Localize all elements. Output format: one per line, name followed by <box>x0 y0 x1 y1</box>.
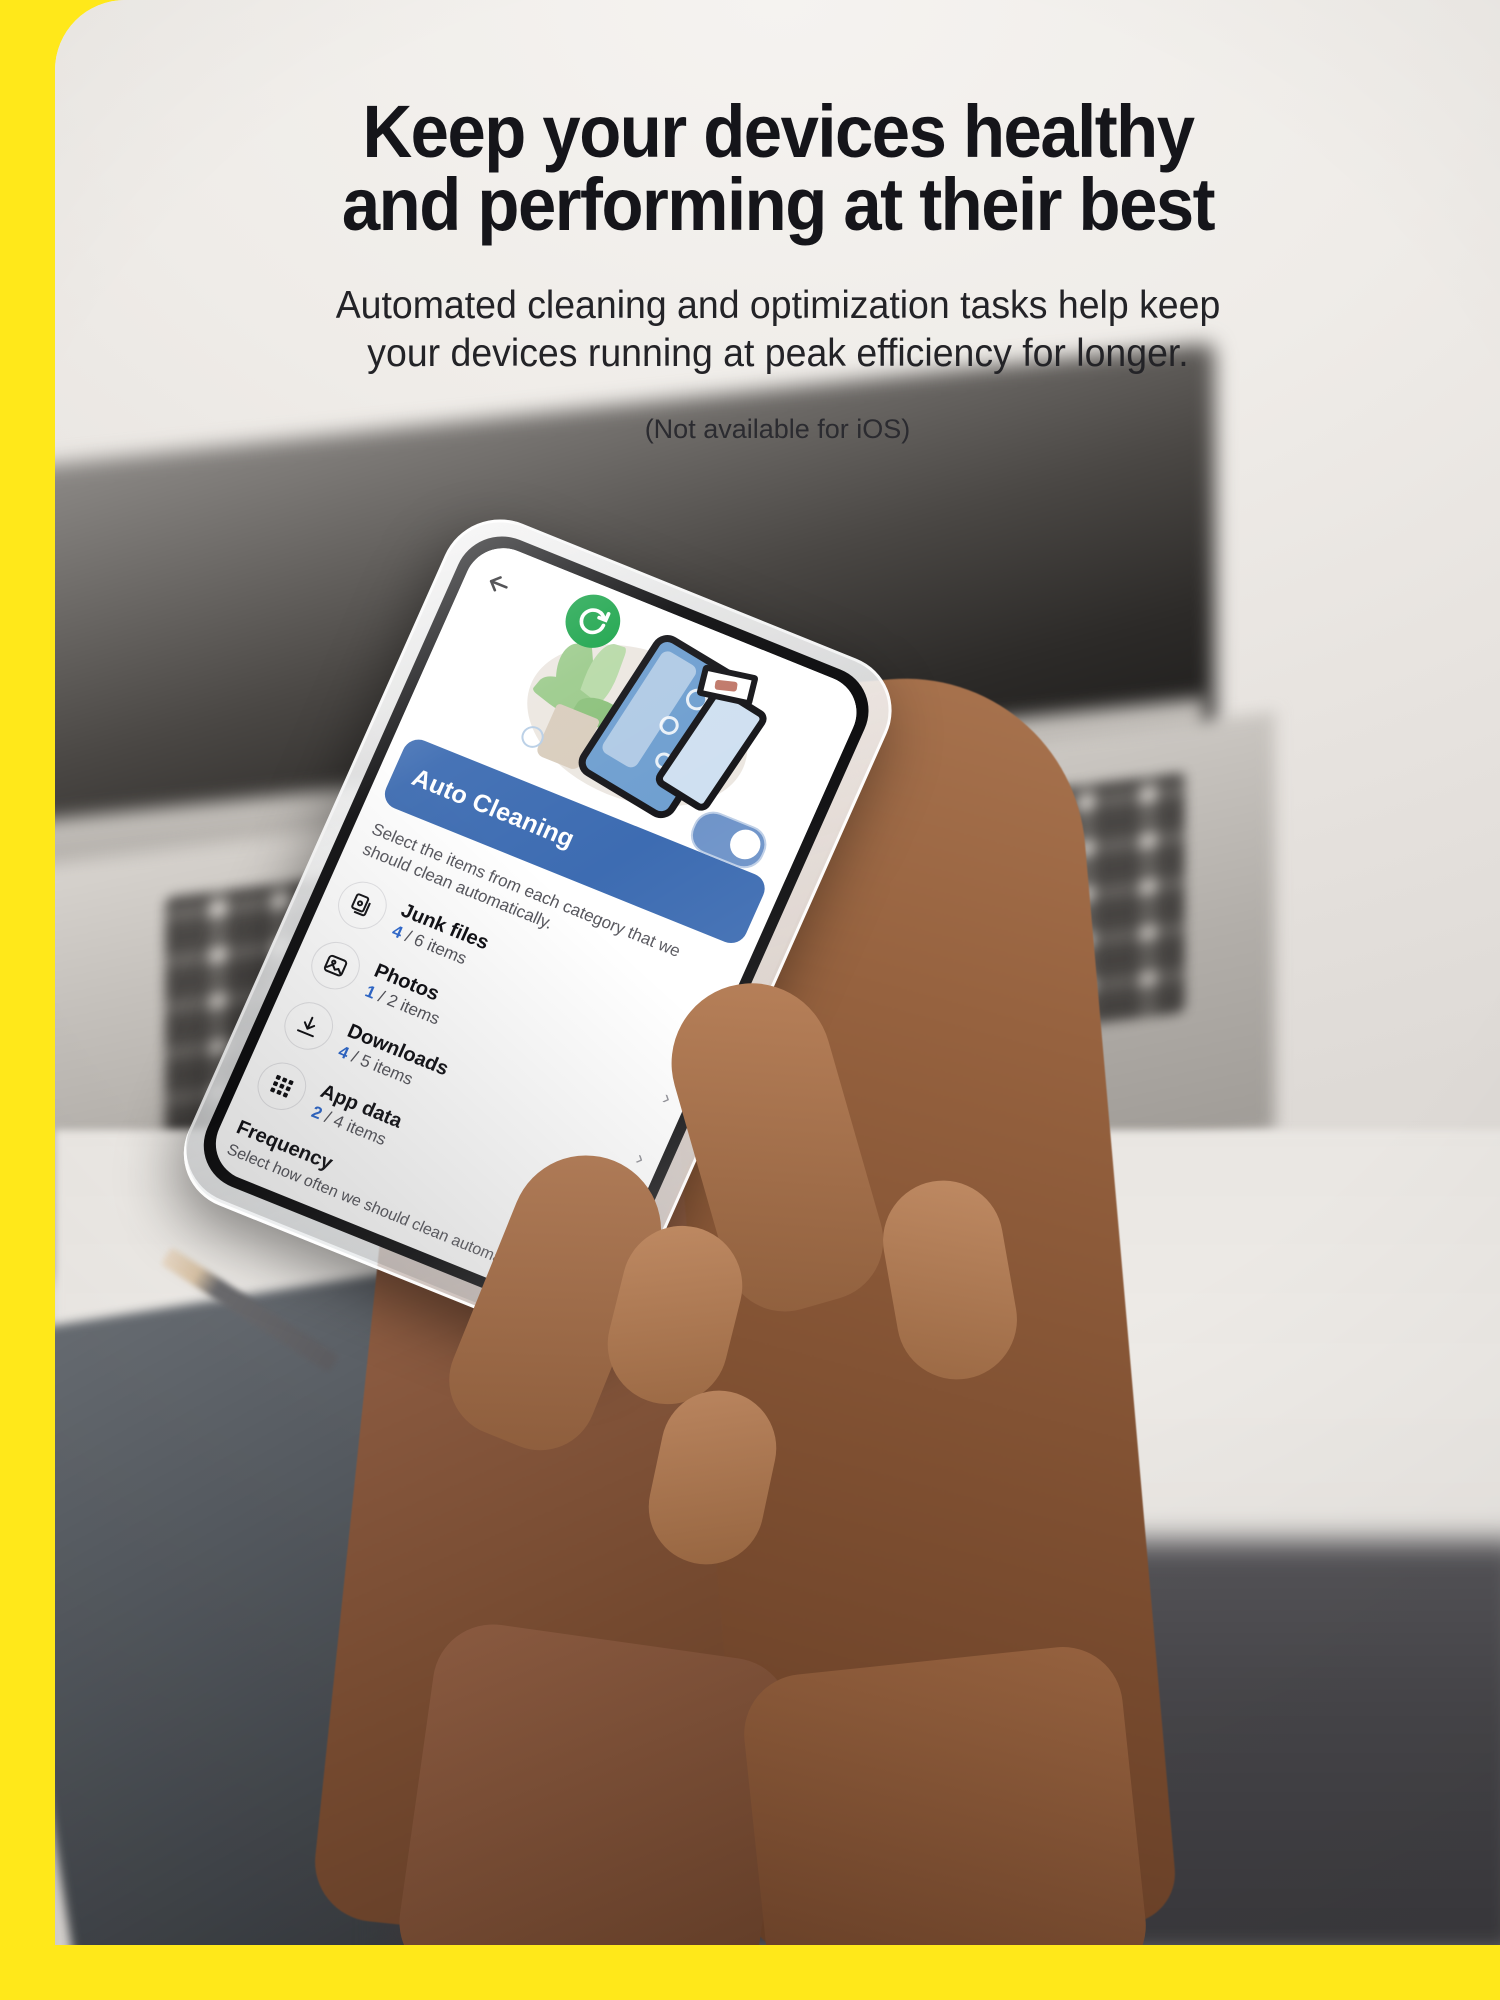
promo-copy: Keep your devices healthy and performing… <box>55 0 1500 445</box>
left-forearm <box>392 1617 799 1945</box>
chevron-right-icon[interactable]: › <box>659 1087 675 1111</box>
downloads-icon <box>277 995 341 1057</box>
back-arrow-icon[interactable] <box>480 566 517 602</box>
junk-files-icon <box>330 874 394 936</box>
promo-page: Keep your devices healthy and performing… <box>0 0 1500 2000</box>
toggle-knob <box>725 825 765 864</box>
photos-icon <box>304 935 368 997</box>
app-data-icon <box>250 1055 314 1117</box>
refresh-glyph <box>570 599 615 643</box>
page-title: Keep your devices healthy and performing… <box>308 95 1247 242</box>
page-subtitle: Automated cleaning and optimization task… <box>331 282 1224 379</box>
content-card: Keep your devices healthy and performing… <box>55 0 1500 1945</box>
availability-note: (Not available for iOS) <box>328 414 1228 445</box>
chevron-right-icon[interactable]: › <box>632 1148 648 1172</box>
right-forearm <box>738 1641 1151 1945</box>
